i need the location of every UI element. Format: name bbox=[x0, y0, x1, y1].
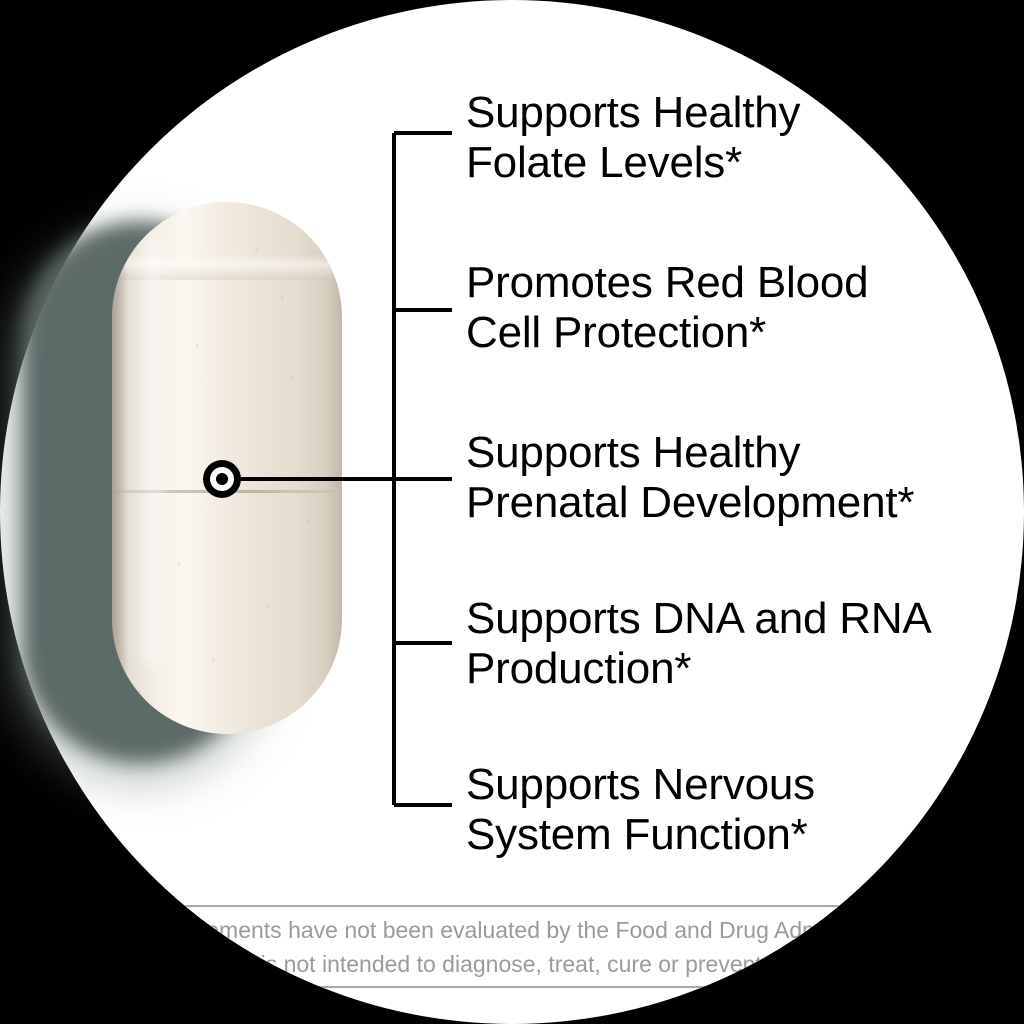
benefit-item-3-line-2: Prenatal Development* bbox=[466, 478, 996, 528]
benefit-item-2-line-1: Promotes Red Blood bbox=[466, 258, 996, 308]
benefit-item-3: Supports Healthy Prenatal Development* bbox=[466, 428, 996, 528]
fda-disclaimer-line-2: This product is not intended to diagnose… bbox=[128, 947, 898, 981]
benefit-item-3-line-1: Supports Healthy bbox=[466, 428, 996, 478]
benefit-item-4-line-2: Production* bbox=[466, 644, 996, 694]
fda-disclaimer-box: These statements have not been evaluated… bbox=[50, 905, 975, 988]
benefit-item-4-line-1: Supports DNA and RNA bbox=[466, 594, 996, 644]
benefit-item-2-line-2: Cell Protection* bbox=[466, 308, 996, 358]
benefit-item-5-line-2: System Function* bbox=[466, 810, 996, 860]
benefit-item-4: Supports DNA and RNA Production* bbox=[466, 594, 996, 694]
infographic-canvas: Supports Healthy Folate Levels* Promotes… bbox=[0, 0, 1024, 1024]
benefit-item-1: Supports Healthy Folate Levels* bbox=[466, 88, 996, 188]
bullseye-marker-icon bbox=[203, 460, 241, 498]
benefit-item-5: Supports Nervous System Function* bbox=[466, 760, 996, 860]
benefit-item-5-line-1: Supports Nervous bbox=[466, 760, 996, 810]
benefit-item-1-line-1: Supports Healthy bbox=[466, 88, 996, 138]
benefit-item-1-line-2: Folate Levels* bbox=[466, 138, 996, 188]
benefit-item-2: Promotes Red Blood Cell Protection* bbox=[466, 258, 996, 358]
fda-disclaimer-line-1: These statements have not been evaluated… bbox=[99, 913, 926, 947]
